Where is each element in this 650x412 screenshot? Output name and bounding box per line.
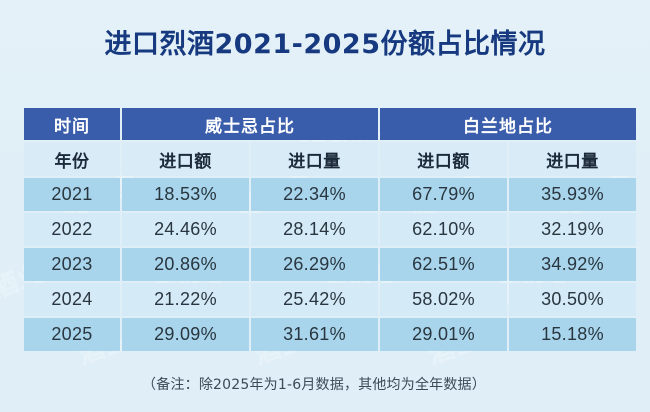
cell-whisky-volume: 22.34% — [251, 178, 378, 211]
cell-whisky-volume: 31.61% — [251, 318, 378, 351]
cell-year: 2022 — [24, 213, 120, 246]
page-title: 进口烈酒2021-2025份额占比情况 — [105, 28, 546, 62]
cell-whisky-value: 29.09% — [122, 318, 249, 351]
cell-brandy-volume: 30.50% — [509, 283, 636, 316]
sub-header-whisky-volume: 进口量 — [251, 142, 378, 176]
table-row: 2025 29.09% 31.61% 29.01% 15.18% — [24, 318, 636, 351]
group-header-brandy: 白兰地占比 — [380, 108, 636, 140]
cell-whisky-value: 18.53% — [122, 178, 249, 211]
table-row: 2024 21.22% 25.42% 58.02% 30.50% — [24, 283, 636, 316]
cell-brandy-value: 62.51% — [380, 248, 507, 281]
cell-brandy-value: 67.79% — [380, 178, 507, 211]
page-title-container: 进口烈酒2021-2025份额占比情况 — [0, 28, 650, 62]
footnote-container: （备注：除2025年为1-6月数据，其他均为全年数据） — [0, 374, 650, 394]
footnote-text: （备注：除2025年为1-6月数据，其他均为全年数据） — [142, 374, 508, 394]
table-sub-header-row: 年份 进口额 进口量 进口额 进口量 — [24, 142, 636, 176]
cell-whisky-volume: 28.14% — [251, 213, 378, 246]
share-ratio-table: 时间 威士忌占比 白兰地占比 年份 进口额 进口量 进口额 进口量 2021 1… — [22, 106, 638, 353]
data-table-container: 时间 威士忌占比 白兰地占比 年份 进口额 进口量 进口额 进口量 2021 1… — [22, 106, 628, 353]
cell-brandy-volume: 34.92% — [509, 248, 636, 281]
cell-brandy-volume: 15.18% — [509, 318, 636, 351]
table-group-header-row: 时间 威士忌占比 白兰地占比 — [24, 108, 636, 140]
cell-whisky-value: 21.22% — [122, 283, 249, 316]
cell-whisky-value: 20.86% — [122, 248, 249, 281]
table-row: 2023 20.86% 26.29% 62.51% 34.92% — [24, 248, 636, 281]
cell-year: 2021 — [24, 178, 120, 211]
table-row: 2022 24.46% 28.14% 62.10% 32.19% — [24, 213, 636, 246]
cell-year: 2024 — [24, 283, 120, 316]
cell-brandy-value: 62.10% — [380, 213, 507, 246]
cell-year: 2025 — [24, 318, 120, 351]
sub-header-whisky-value: 进口额 — [122, 142, 249, 176]
cell-whisky-volume: 25.42% — [251, 283, 378, 316]
cell-brandy-value: 29.01% — [380, 318, 507, 351]
cell-brandy-value: 58.02% — [380, 283, 507, 316]
cell-brandy-volume: 35.93% — [509, 178, 636, 211]
cell-whisky-value: 24.46% — [122, 213, 249, 246]
sub-header-brandy-volume: 进口量 — [509, 142, 636, 176]
page-background: 酒业家 酒业家 酒业家 酒业家 酒业家 酒业家 酒业家 酒业家 酒业家 酒业家 … — [0, 0, 650, 412]
group-header-time: 时间 — [24, 108, 120, 140]
sub-header-brandy-value: 进口额 — [380, 142, 507, 176]
cell-whisky-volume: 26.29% — [251, 248, 378, 281]
group-header-whisky: 威士忌占比 — [122, 108, 378, 140]
sub-header-year: 年份 — [24, 142, 120, 176]
table-row: 2021 18.53% 22.34% 67.79% 35.93% — [24, 178, 636, 211]
cell-year: 2023 — [24, 248, 120, 281]
table-body: 2021 18.53% 22.34% 67.79% 35.93% 2022 24… — [24, 178, 636, 351]
cell-brandy-volume: 32.19% — [509, 213, 636, 246]
